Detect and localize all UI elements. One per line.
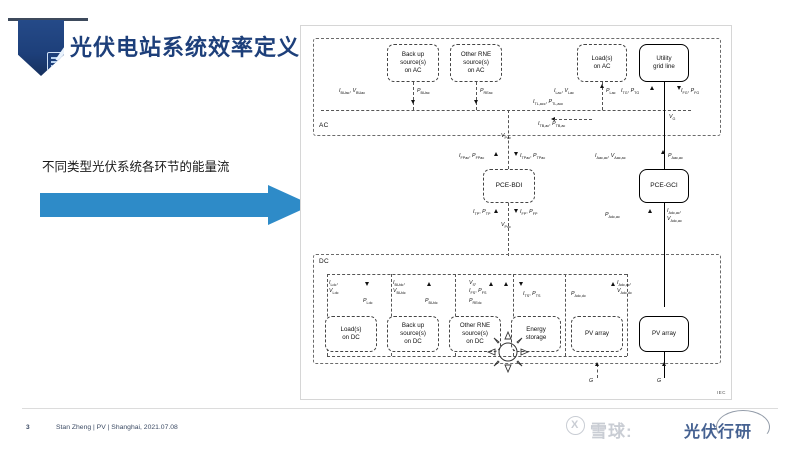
line-backup-ac-drop <box>413 82 414 110</box>
sun-icon <box>487 331 529 373</box>
node-label: Load(s)on AC <box>592 55 613 71</box>
label-bu-ac-iv: IBUac, VBUac <box>339 88 365 96</box>
dc-bus-line-bottom <box>327 356 627 357</box>
label-s-fs: VS,IFS, PFS <box>469 280 486 295</box>
arrow-adc-dc-up <box>611 282 615 286</box>
label-tg: ITG, PTG <box>621 88 639 96</box>
node-pv-array-gci: PV array <box>639 316 689 352</box>
page-number: 3 <box>26 424 30 431</box>
label-l-ac-iv: ILac, VLac <box>554 88 574 96</box>
footer-meta: Stan Zheng | PV | Shanghai, 2021.07.08 <box>56 424 178 431</box>
footer-divider <box>22 408 778 409</box>
arrow-aac-ac-up <box>661 150 665 154</box>
arrow-fp-down <box>514 209 518 213</box>
node-label: Back upsource(s)on AC <box>400 51 426 76</box>
arrow-g-left-up <box>595 362 599 366</box>
dc-bus-line <box>327 274 627 275</box>
node-label: PV array <box>585 330 609 338</box>
iec-credit-label: IEC <box>717 390 726 395</box>
label-fg: IFG, PFG <box>681 88 699 96</box>
label-aac-ac-iv: IAac,ac, VAac,ac <box>595 153 626 161</box>
line-other-rne-ac-drop <box>476 82 477 110</box>
arrow-fs-up <box>504 282 508 286</box>
arrow-other-rne-ac-down <box>474 100 478 104</box>
arrow-fpac-up <box>494 152 498 156</box>
label-bu-dc-iv: IBUdc,VBUdc <box>393 280 406 295</box>
node-other-rne-ac: Other RNEsource(s)on AC <box>450 44 502 82</box>
node-backup-dc: Back upsource(s)on DC <box>387 316 439 352</box>
label-v-pdc: VPdc <box>501 222 511 230</box>
label-tb-ac: ITB,ac, PTB,ac <box>538 121 565 129</box>
flow-arrow-icon <box>40 185 312 225</box>
arrow-adc-ac-up <box>648 209 652 213</box>
label-ts: ITS, PTS <box>523 291 540 299</box>
label-adc-ac-p: PAdc,ac <box>605 212 620 220</box>
label-tl-acc: ITL,acc, PTL,acc <box>533 99 563 107</box>
label-tpac: ITPac, PTPac <box>520 153 545 161</box>
label-l-dc-iv: ILdc,VLdc <box>329 280 339 295</box>
label-tp: ITP, PTP <box>473 209 490 217</box>
node-label: Utilitygrid line <box>653 55 675 71</box>
label-re-dc-p: PREdc <box>469 298 482 306</box>
label-l-dc-p: PLdc <box>363 298 373 306</box>
page-title: 光伏电站系统效率定义 <box>70 30 300 62</box>
arrow-re-dc-up <box>489 282 493 286</box>
label-re-ac-p: PREac <box>480 88 493 96</box>
label-v-pac: VPac <box>501 133 511 141</box>
label-adc-dc-iv: IAdc,dc,VAdc,dc <box>617 280 632 295</box>
arrow-backup-ac-down <box>411 100 415 104</box>
arrow-bu-dc-up <box>427 282 431 286</box>
node-label: PCE-GCI <box>650 182 677 191</box>
node-backup-ac: Back upsource(s)on AC <box>387 44 439 82</box>
node-loads-dc: Load(s)on DC <box>325 316 377 352</box>
arrow-tpac-down <box>514 152 518 156</box>
node-label: PCE-BDI <box>496 182 523 191</box>
node-label: Back upsource(s)on DC <box>400 322 426 347</box>
energy-flow-diagram: AC Back upsource(s)on AC Other RNEsource… <box>300 25 732 400</box>
label-v-g: VG <box>669 114 675 122</box>
label-bu-dc-p: PBUdc <box>425 298 438 306</box>
label-l-ac-p: PLac <box>606 88 616 96</box>
arrow-g-right-up <box>662 362 666 366</box>
banner-shield-icon <box>18 20 64 76</box>
label-aac-ac-p: PAac,ac <box>668 153 683 161</box>
node-label: Load(s)on DC <box>341 326 362 342</box>
label-fp: IFP, PFP <box>520 209 537 217</box>
arrow-tp-up <box>494 209 498 213</box>
line-tb-ac <box>554 119 592 120</box>
node-pce-bdi: PCE-BDI <box>483 169 535 203</box>
node-label: Other RNEsource(s)on AC <box>461 51 491 76</box>
region-dc-label: DC <box>319 258 329 265</box>
line-irradiance-left <box>597 364 598 378</box>
label-adc-ac-iv: IAdc,ac,VAdc,ac <box>667 208 682 223</box>
label-g-right: G <box>657 378 661 385</box>
arrow-loads-ac-up <box>600 84 604 88</box>
node-label: PV array <box>652 330 676 338</box>
watermark: 雪球: 光伏行研 <box>566 410 786 444</box>
arrow-tg-up <box>650 86 654 90</box>
label-bu-ac-p: PBUac <box>417 88 430 96</box>
label-fpac: IFPac, PFPac <box>459 153 484 161</box>
node-label: Other RNEsource(s)on DC <box>460 322 490 347</box>
ac-bus-line <box>321 110 691 111</box>
node-loads-ac: Load(s)on AC <box>577 44 627 82</box>
xueqiu-logo-icon <box>566 416 585 435</box>
dc-bus-sep-4 <box>565 274 566 356</box>
node-pv-array-dc: PV array <box>571 316 623 352</box>
caption-text: 不同类型光伏系统各环节的能量流 <box>42 156 230 175</box>
arrow-ts-down <box>519 282 523 286</box>
region-ac-label: AC <box>319 122 329 129</box>
watermark-brand: 雪球: <box>590 417 633 442</box>
arrow-l-dc-down <box>365 282 369 286</box>
label-g-left: G <box>589 378 593 385</box>
node-pce-gci: PCE-GCI <box>639 169 689 203</box>
label-adc-dc-p: PAdc,dc <box>571 291 586 299</box>
node-utility-grid-line: Utilitygrid line <box>639 44 689 82</box>
